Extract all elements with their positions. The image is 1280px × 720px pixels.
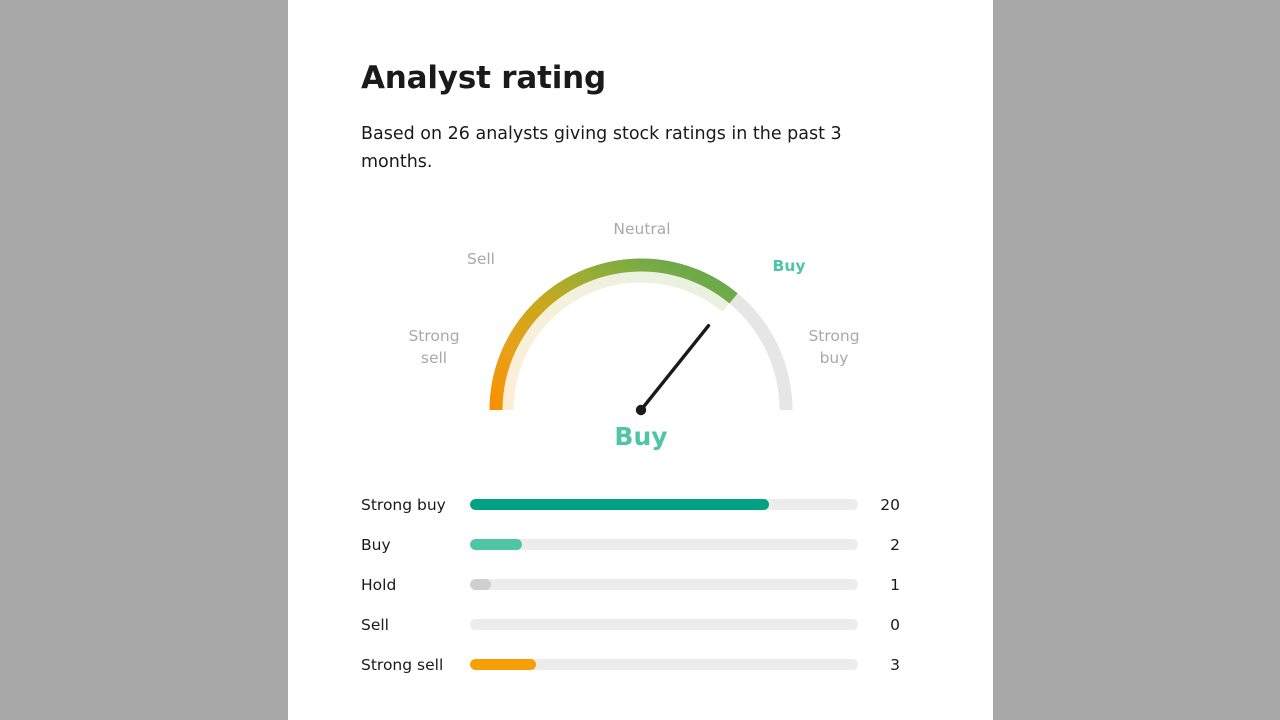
gauge-label-strong-sell: Strong sell <box>386 325 482 370</box>
rating-row-track <box>470 619 858 630</box>
gauge-value-arc <box>496 265 786 410</box>
rating-row-track <box>470 499 858 510</box>
page-title: Analyst rating <box>361 60 606 97</box>
analyst-rating-card: Analyst rating Based on 26 analysts givi… <box>288 0 993 720</box>
rating-row-value: 0 <box>858 615 900 635</box>
rating-row-track <box>470 579 858 590</box>
gauge-current-rating: Buy <box>535 422 747 451</box>
rating-row-value: 3 <box>858 655 900 675</box>
gauge-track <box>496 265 786 410</box>
rating-row-label: Hold <box>361 575 465 595</box>
rating-row-bar <box>470 499 769 510</box>
rating-row-track <box>470 659 858 670</box>
rating-row-label: Strong buy <box>361 495 465 515</box>
rating-row-bar <box>470 539 522 550</box>
page-background: Analyst rating Based on 26 analysts givi… <box>0 0 1280 720</box>
rating-row-value: 1 <box>858 575 900 595</box>
gauge-needle <box>636 326 709 416</box>
gauge-label-neutral: Neutral <box>576 218 708 240</box>
gauge-label-strong-buy: Strong buy <box>786 325 882 370</box>
rating-row-bar <box>470 579 491 590</box>
rating-row: Strong sell3 <box>361 647 973 687</box>
rating-row-label: Buy <box>361 535 465 555</box>
rating-row-value: 20 <box>858 495 900 515</box>
rating-row-bar <box>470 659 536 670</box>
rating-row-label: Strong sell <box>361 655 465 675</box>
page-subtitle: Based on 26 analysts giving stock rating… <box>361 120 891 177</box>
rating-distribution-list: Strong buy20Buy2Hold1Sell0Strong sell3 <box>361 487 973 687</box>
rating-row: Strong buy20 <box>361 487 973 527</box>
rating-row: Sell0 <box>361 607 973 647</box>
rating-row-label: Sell <box>361 615 465 635</box>
rating-row: Buy2 <box>361 527 973 567</box>
rating-row: Hold1 <box>361 567 973 607</box>
rating-row-track <box>470 539 858 550</box>
analyst-rating-gauge: Strong sell Sell Neutral Buy Strong buy … <box>361 200 921 470</box>
gauge-label-buy: Buy <box>746 255 832 277</box>
gauge-label-sell: Sell <box>441 248 521 270</box>
rating-row-value: 2 <box>858 535 900 555</box>
